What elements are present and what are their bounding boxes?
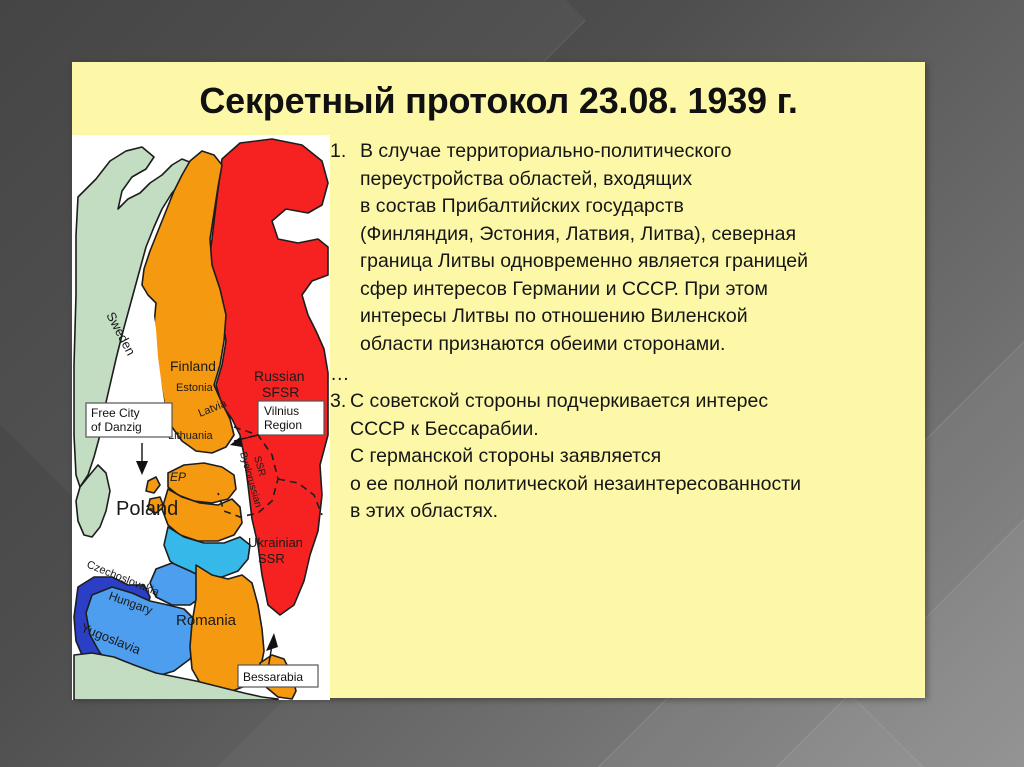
paragraph-1-line-2: переустройства областей, входящих [330, 166, 925, 194]
page-title: Секретный протокол 23.08. 1939 г. [72, 80, 925, 122]
paragraph-1-text-4: (Финляндия, Эстония, Латвия, Литва), сев… [360, 223, 796, 245]
map-label-east-prussia: EP [170, 470, 186, 484]
paragraph-1-text-1: В случае территориально-политического [360, 140, 731, 162]
paragraph-3-text-2: СССР к Бессарабии. [350, 418, 539, 440]
map-label-ukrainian-ssr-line2: SSR [258, 551, 285, 566]
paragraph-1-line-1: 1.В случае территориально-политического [330, 138, 925, 166]
protocol-paragraph-3: 3.С советской стороны подчеркивается инт… [330, 388, 925, 526]
protocol-paragraph-1: 1.В случае территориально-политического … [330, 138, 925, 358]
content-panel: Секретный протокол 23.08. 1939 г. [72, 62, 925, 698]
paragraph-3-line-1: 3.С советской стороны подчеркивается инт… [330, 388, 925, 416]
paragraph-3-line-5: в этих областях. [330, 498, 925, 526]
paragraph-1-line-5: граница Литвы одновременно является гран… [330, 248, 925, 276]
map-label-estonia: Estonia [176, 382, 214, 394]
paragraph-1-line-4: (Финляндия, Эстония, Латвия, Литва), сев… [330, 221, 925, 249]
svg-text:Free City: Free City [91, 406, 140, 420]
svg-text:Vilnius: Vilnius [264, 404, 299, 418]
map-label-russian-sfsr-line1: Russian [254, 368, 305, 384]
ellipsis-separator: … [330, 364, 925, 384]
svg-text:Region: Region [264, 418, 302, 432]
paragraph-1-line-3: в состав Прибалтийских государств [330, 193, 925, 221]
map-label-finland: Finland [170, 358, 216, 374]
paragraph-3-line-2: СССР к Бессарабии. [330, 416, 925, 444]
paragraph-1-text-7: интересы Литвы по отношению Виленской [360, 305, 748, 327]
paragraph-3-text-3: С германской стороны заявляется [350, 445, 661, 467]
paragraph-3-text-1: С советской стороны подчеркивается интер… [350, 390, 768, 412]
svg-text:Bessarabia: Bessarabia [243, 670, 303, 684]
paragraph-3-text-5: в этих областях. [350, 500, 498, 522]
paragraph-1-text-8: области признаются обеими сторонами. [360, 333, 725, 355]
paragraph-1-text-3: в состав Прибалтийских государств [360, 195, 684, 217]
map-label-russian-sfsr-line2: SFSR [262, 384, 299, 400]
protocol-text: 1.В случае территориально-политического … [330, 138, 925, 526]
paragraph-1-text-2: переустройства областей, входящих [360, 168, 692, 190]
slide-canvas: Секретный протокол 23.08. 1939 г. [0, 0, 1024, 767]
paragraph-1-marker: 1. [330, 138, 360, 166]
paragraph-3-line-4: о ее полной политической незаинтересован… [330, 471, 925, 499]
paragraph-1-line-6: сфер интересов Германии и СССР. При этом [330, 276, 925, 304]
paragraph-3-marker: 3. [330, 388, 350, 416]
map-image: Sweden Finland Russian SFSR Estonia Latv… [72, 135, 330, 700]
paragraph-1-text-6: сфер интересов Германии и СССР. При этом [360, 278, 768, 300]
map-label-ukrainian-ssr-line1: Ukrainian [248, 535, 303, 550]
paragraph-3-line-3: С германской стороны заявляется [330, 443, 925, 471]
map-label-poland: Poland [116, 498, 178, 520]
map-label-romania: Romania [176, 612, 237, 629]
svg-text:of Danzig: of Danzig [91, 420, 142, 434]
europe-1939-map-svg: Sweden Finland Russian SFSR Estonia Latv… [72, 135, 330, 700]
paragraph-1-line-7: интересы Литвы по отношению Виленской [330, 303, 925, 331]
paragraph-1-line-8: области признаются обеими сторонами. [330, 331, 925, 359]
paragraph-1-text-5: граница Литвы одновременно является гран… [360, 250, 808, 272]
paragraph-3-text-4: о ее полной политической незаинтересован… [350, 473, 801, 495]
map-label-lithuania: Lithuania [168, 430, 214, 442]
